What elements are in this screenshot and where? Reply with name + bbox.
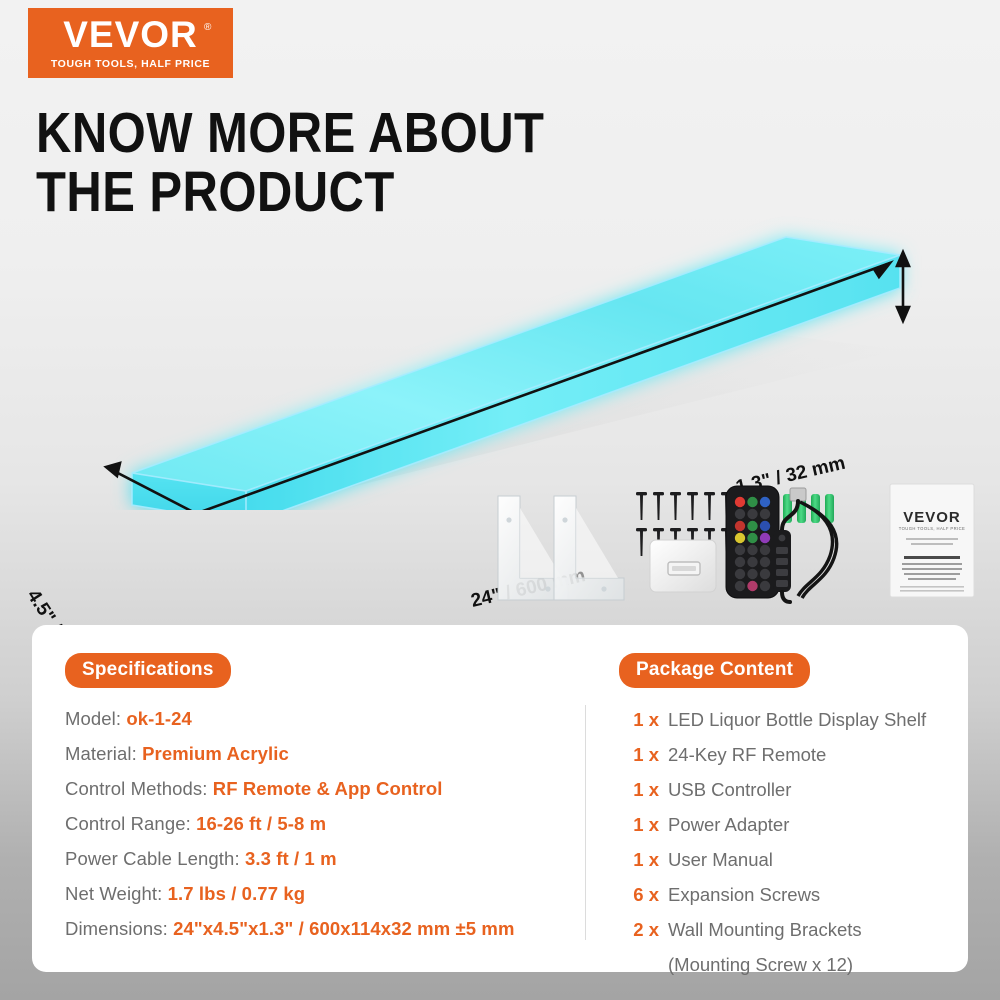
list-item: 1 x USB Controller [619, 779, 968, 801]
wall-mounting-bracket-icon [498, 496, 624, 600]
list-item: 1 x LED Liquor Bottle Display Shelf [619, 709, 968, 731]
item-name: User Manual [668, 849, 773, 871]
logo-tagline: TOUGH TOOLS, HALF PRICE [51, 58, 210, 70]
spec-label: Net Weight: [65, 883, 162, 904]
spec-label: Dimensions: [65, 918, 168, 939]
svg-text:VEVOR: VEVOR [903, 509, 961, 526]
spec-value: Premium Acrylic [142, 743, 289, 764]
spec-value: 1.7 lbs / 0.77 kg [168, 883, 305, 904]
item-quantity: 1 x [619, 744, 659, 766]
list-item: 1 x Power Adapter [619, 814, 968, 836]
item-name: Expansion Screws [668, 884, 820, 906]
spec-row: Model: ok-1-24 [65, 708, 585, 730]
item-name: 24-Key RF Remote [668, 744, 826, 766]
package-content-list: 1 x LED Liquor Bottle Display Shelf 1 x … [619, 709, 968, 976]
package-content-panel: Package Content 1 x LED Liquor Bottle Di… [585, 625, 968, 972]
spec-row: Power Cable Length: 3.3 ft / 1 m [65, 848, 585, 870]
svg-text:TOUGH TOOLS, HALF PRICE: TOUGH TOOLS, HALF PRICE [899, 526, 965, 531]
accessories-group: VEVOR TOUGH TOOLS, HALF PRICE [490, 478, 990, 613]
spec-label: Material: [65, 743, 137, 764]
list-item: 2 x Wall Mounting Brackets [619, 919, 968, 941]
item-quantity: 1 x [619, 779, 659, 801]
item-quantity: 2 x [619, 919, 659, 941]
item-name: Wall Mounting Brackets [668, 919, 862, 941]
mounting-screw-note: (Mounting Screw x 12) [668, 954, 968, 976]
product-illustration: 24" / 600 mm 1.3" / 32 mm 4.5" / 114 mm [0, 180, 1000, 510]
vevor-logo: VEVOR ® TOUGH TOOLS, HALF PRICE [28, 8, 233, 78]
spec-label: Power Cable Length: [65, 848, 240, 869]
specifications-badge: Specifications [65, 653, 231, 688]
item-name: LED Liquor Bottle Display Shelf [668, 709, 926, 731]
spec-row: Material: Premium Acrylic [65, 743, 585, 765]
logo-wordmark: VEVOR [63, 16, 198, 53]
rf-remote-icon [726, 486, 779, 598]
registered-trademark-icon: ® [204, 22, 244, 33]
spec-label: Control Range: [65, 813, 191, 834]
spec-value: 24"x4.5"x1.3" / 600x114x32 mm ±5 mm [173, 918, 514, 939]
list-item: 6 x Expansion Screws [619, 884, 968, 906]
spec-row: Control Methods: RF Remote & App Control [65, 778, 585, 800]
list-item: 1 x User Manual [619, 849, 968, 871]
spec-row: Net Weight: 1.7 lbs / 0.77 kg [65, 883, 585, 905]
power-adapter-icon [650, 540, 716, 592]
item-name: Power Adapter [668, 814, 789, 836]
info-card: Specifications Model: ok-1-24 Material: … [32, 625, 968, 972]
item-quantity: 1 x [619, 849, 659, 871]
spec-label: Control Methods: [65, 778, 207, 799]
spec-value: RF Remote & App Control [213, 778, 443, 799]
item-name: USB Controller [668, 779, 791, 801]
user-manual-icon: VEVOR TOUGH TOOLS, HALF PRICE [890, 484, 974, 597]
spec-value: 16-26 ft / 5-8 m [196, 813, 326, 834]
item-quantity: 1 x [619, 814, 659, 836]
spec-value: 3.3 ft / 1 m [245, 848, 337, 869]
specifications-panel: Specifications Model: ok-1-24 Material: … [32, 625, 585, 972]
spec-row: Control Range: 16-26 ft / 5-8 m [65, 813, 585, 835]
spec-label: Model: [65, 708, 121, 729]
specifications-list: Model: ok-1-24 Material: Premium Acrylic… [65, 708, 585, 940]
spec-row: Dimensions: 24"x4.5"x1.3" / 600x114x32 m… [65, 918, 585, 940]
list-item: 1 x 24-Key RF Remote [619, 744, 968, 766]
spec-value: ok-1-24 [126, 708, 191, 729]
package-content-badge: Package Content [619, 653, 810, 688]
item-quantity: 1 x [619, 709, 659, 731]
item-quantity: 6 x [619, 884, 659, 906]
